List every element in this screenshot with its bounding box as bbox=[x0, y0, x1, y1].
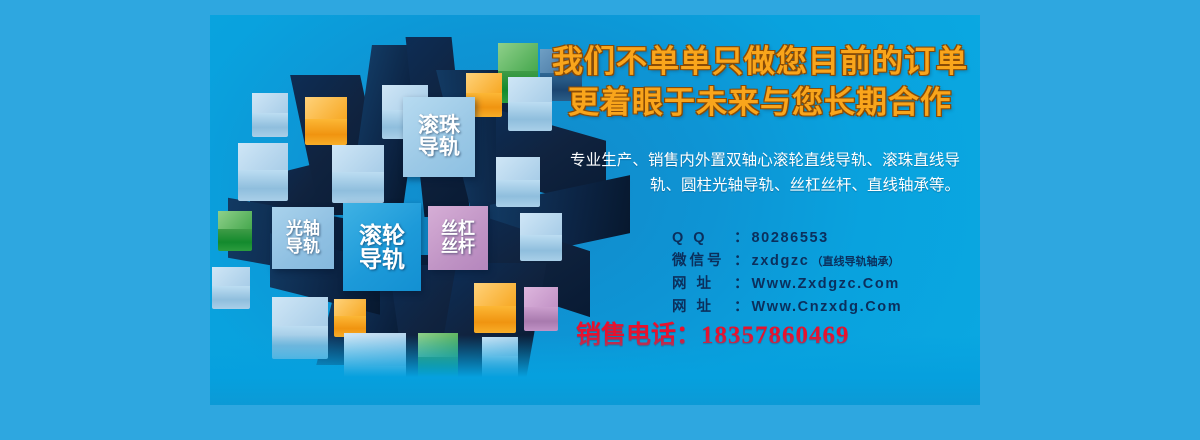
cube-light-blue bbox=[332, 145, 384, 203]
website-1-value[interactable]: Www.Zxdgzc.Com bbox=[752, 273, 900, 296]
wechat-label: 微信号 bbox=[672, 250, 734, 273]
label-line-2: 导轨 bbox=[359, 247, 405, 271]
banner-bottom-fade bbox=[210, 335, 980, 405]
qq-separator: ： bbox=[734, 227, 749, 250]
cube-light-blue bbox=[252, 93, 288, 137]
website-1-label: 网 址 bbox=[672, 273, 734, 296]
cube-orange bbox=[334, 299, 366, 337]
label-line-1: 滚轮 bbox=[359, 223, 405, 247]
headline-line-1: 我们不单单只做您目前的订单 bbox=[552, 44, 968, 79]
qq-label: Q Q bbox=[672, 227, 734, 250]
label-line-2: 导轨 bbox=[418, 137, 460, 159]
headline-line-2: 更着眼于未来与您长期合作 bbox=[540, 82, 980, 123]
cube-light-blue bbox=[496, 157, 540, 207]
banner-page: 滚珠 导轨 光轴 导轨 滚轮 导轨 丝杠 丝杆 我们不单单只做您目前的订单 更着… bbox=[0, 0, 1200, 440]
label-line-1: 滚珠 bbox=[418, 115, 460, 137]
contact-row-wechat: 微信号 ： zxdgzc （直线导轨轴承） bbox=[672, 250, 902, 273]
description-text: 专业生产、销售内外置双轴心滚轮直线导轨、滚珠直线导轨、圆柱光轴导轨、丝杠丝杆、直… bbox=[570, 148, 960, 198]
label-line-2: 导轨 bbox=[286, 238, 320, 256]
cube-green bbox=[218, 211, 252, 251]
label-line-1: 光轴 bbox=[286, 220, 320, 238]
product-label-gunzhu-daogui[interactable]: 滚珠 导轨 bbox=[403, 97, 475, 177]
label-line-2: 丝杆 bbox=[441, 238, 475, 256]
product-label-gunlun-daogui[interactable]: 滚轮 导轨 bbox=[343, 203, 421, 291]
headline: 我们不单单只做您目前的订单 更着眼于未来与您长期合作 bbox=[540, 41, 980, 123]
cube-orange bbox=[474, 283, 516, 333]
website-1-separator: ： bbox=[734, 273, 749, 296]
qq-value[interactable]: 80286553 bbox=[752, 227, 829, 250]
cube-light-blue bbox=[212, 267, 250, 309]
wechat-note: （直线导轨轴承） bbox=[811, 254, 899, 271]
product-label-sigang-sigan[interactable]: 丝杠 丝杆 bbox=[428, 206, 488, 270]
cube-light-blue bbox=[238, 143, 288, 201]
wechat-value[interactable]: zxdgzc bbox=[752, 250, 810, 273]
contact-block: Q Q ： 80286553 微信号 ： zxdgzc （直线导轨轴承） 网 址… bbox=[672, 227, 902, 319]
wechat-separator: ： bbox=[734, 250, 749, 273]
product-label-guangzhou-daogui[interactable]: 光轴 导轨 bbox=[272, 207, 334, 269]
promo-banner: 滚珠 导轨 光轴 导轨 滚轮 导轨 丝杠 丝杆 我们不单单只做您目前的订单 更着… bbox=[210, 15, 980, 405]
contact-row-qq: Q Q ： 80286553 bbox=[672, 227, 902, 250]
contact-row-website-1: 网 址 ： Www.Zxdgzc.Com bbox=[672, 273, 902, 296]
cube-orange bbox=[305, 97, 347, 145]
label-line-1: 丝杠 bbox=[441, 220, 475, 238]
